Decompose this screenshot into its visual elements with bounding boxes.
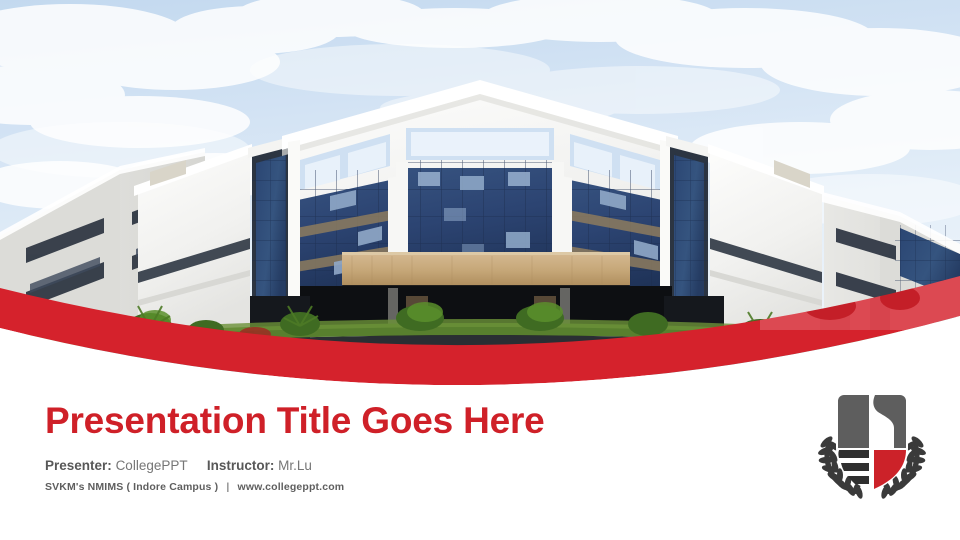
organization-line: SVKM's NMIMS ( Indore Campus ) | www.col… bbox=[45, 481, 685, 493]
instructor-label: Instructor: bbox=[207, 458, 275, 473]
campus-building-photo-art bbox=[0, 0, 960, 375]
nmims-shield-crest-logo-art bbox=[806, 388, 938, 500]
nmims-shield-crest-logo bbox=[806, 388, 938, 500]
website-url[interactable]: www.collegeppt.com bbox=[238, 481, 345, 493]
presenter-value: CollegePPT bbox=[116, 458, 188, 473]
presenter-label: Presenter: bbox=[45, 458, 112, 473]
org-separator: | bbox=[221, 481, 234, 493]
presentation-slide: Presentation Title Goes Here Presenter: … bbox=[0, 0, 960, 540]
title-text-block: Presentation Title Goes Here Presenter: … bbox=[45, 402, 685, 493]
building-left-recess bbox=[248, 136, 295, 312]
shield-bars bbox=[838, 450, 869, 484]
building-right-block bbox=[708, 144, 824, 340]
page-title: Presentation Title Goes Here bbox=[45, 402, 685, 441]
institution-name: SVKM's NMIMS ( Indore Campus ) bbox=[45, 481, 218, 493]
building-right-recess bbox=[665, 136, 713, 312]
shield-left-panel bbox=[838, 395, 869, 448]
campus-building-photo bbox=[0, 0, 960, 375]
presenter-instructor-line: Presenter: CollegePPT Instructor: Mr.Lu bbox=[45, 458, 685, 473]
instructor-value: Mr.Lu bbox=[278, 458, 312, 473]
